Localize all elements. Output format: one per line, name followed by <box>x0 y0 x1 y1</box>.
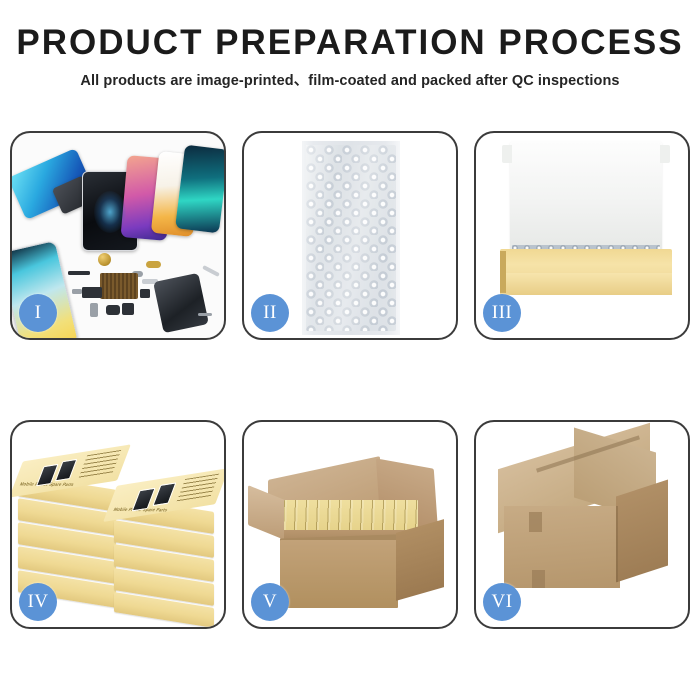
small-screws-icon <box>198 313 212 316</box>
step-panel-2: II <box>242 131 458 340</box>
gold-part-icon <box>146 261 161 268</box>
phone-backplate-icon <box>153 273 209 333</box>
carton-corner-edge-icon <box>616 506 618 582</box>
step-panel-4: Mobile Phone Spare Parts Mobile Phone Sp… <box>10 420 226 629</box>
box-label-textlines <box>176 474 219 503</box>
carton-tape-lower-icon <box>532 570 545 588</box>
box-lid-icon <box>510 141 662 253</box>
step-badge-1: I <box>19 294 57 332</box>
product-preparation-infographic: PRODUCT PREPARATION PROCESS All products… <box>0 0 700 700</box>
strip-part-icon <box>68 271 90 275</box>
step-panel-3: III <box>474 131 690 340</box>
yellow-box-left-edge-icon <box>500 251 506 293</box>
spare-parts-group <box>70 251 220 338</box>
bubble-wrap-texture-icon <box>306 145 396 331</box>
step-badge-4: IV <box>19 583 57 621</box>
camera-module-icon <box>82 287 102 298</box>
process-steps-grid: I II III <box>10 131 690 629</box>
yellow-box-front-icon <box>500 273 672 295</box>
step-badge-6: VI <box>483 583 521 621</box>
carton-front-face-icon <box>280 540 398 608</box>
circuit-board-icon <box>100 273 138 299</box>
sealed-carton-side-icon <box>616 480 668 583</box>
connector-part-icon <box>140 289 150 298</box>
step-panel-5: V <box>242 420 458 629</box>
carton-tape-upper-icon <box>529 512 542 532</box>
step-badge-3: III <box>483 294 521 332</box>
box-label-textlines <box>78 450 121 479</box>
step-badge-5: V <box>251 583 289 621</box>
sealed-carton-front-icon <box>504 506 620 588</box>
carton-right-face-icon <box>396 519 444 601</box>
speaker-part-icon <box>98 253 111 266</box>
sim-tray-icon <box>90 303 98 317</box>
box-label-phone-image <box>55 459 78 482</box>
box-label-phone-image <box>152 482 176 506</box>
screen-glow-icon <box>94 191 126 233</box>
step-panel-1: I <box>10 131 226 340</box>
step-panel-6: VI <box>474 420 690 629</box>
page-subtitle: All products are image-printed、film-coat… <box>0 70 700 92</box>
chip-part-icon <box>122 303 134 315</box>
box-lid-tab-left-icon <box>502 145 512 163</box>
page-title: PRODUCT PREPARATION PROCESS <box>0 22 700 64</box>
header: PRODUCT PREPARATION PROCESS All products… <box>0 22 700 92</box>
tool-icon <box>202 265 220 277</box>
box-lid-tab-right-icon <box>660 145 670 163</box>
vibrator-part-icon <box>106 305 120 315</box>
screw-part-icon <box>72 289 82 294</box>
step-badge-2: II <box>251 294 289 332</box>
